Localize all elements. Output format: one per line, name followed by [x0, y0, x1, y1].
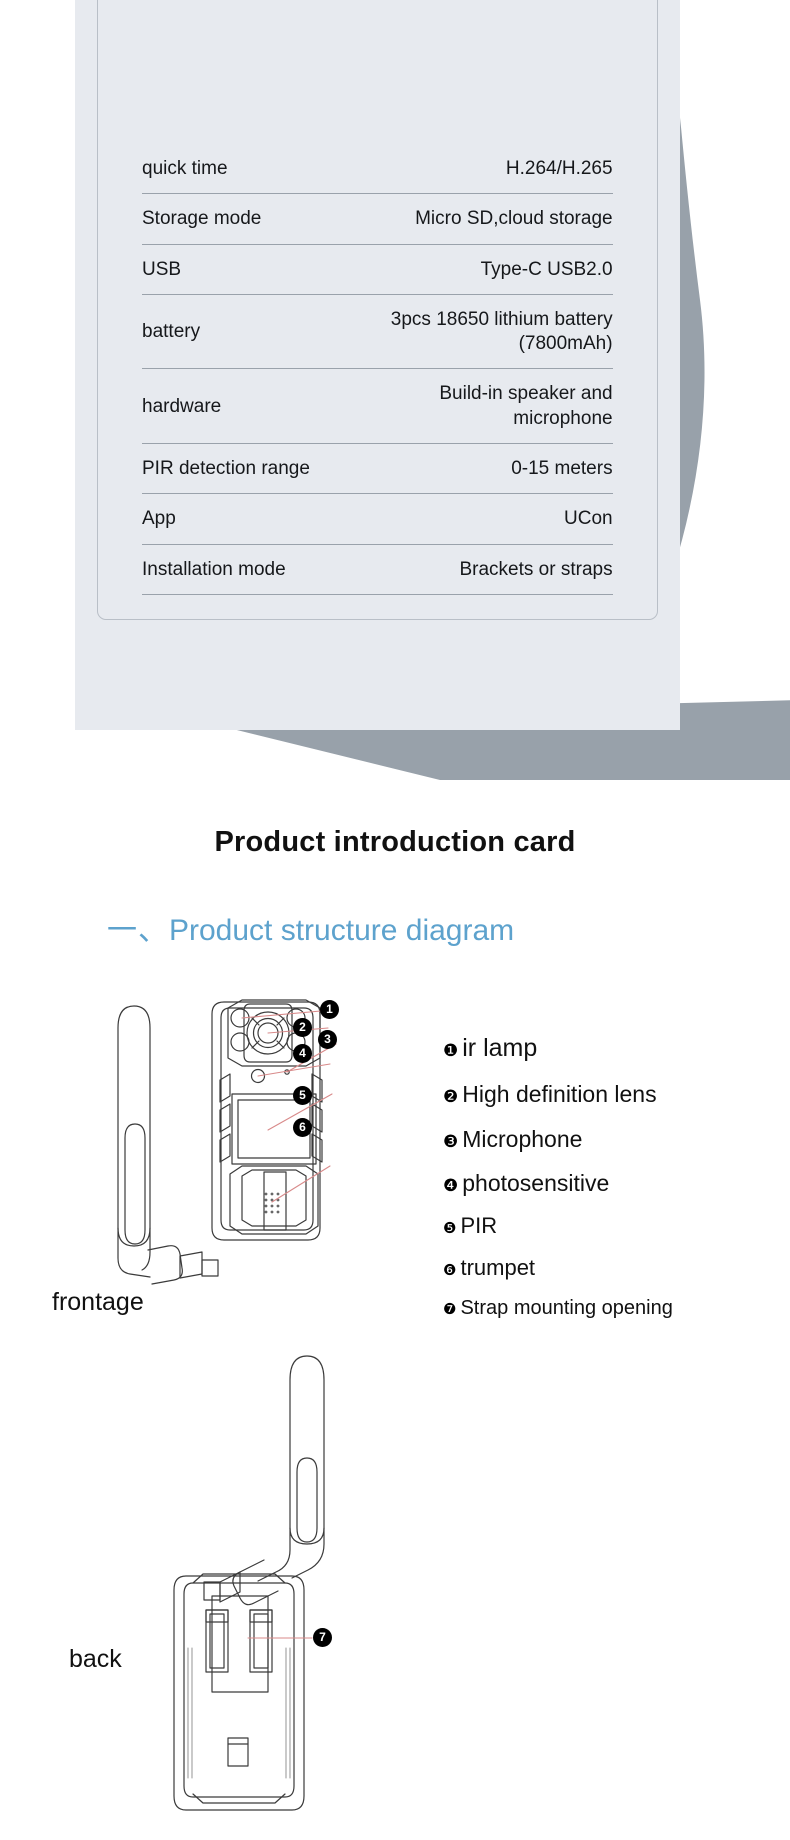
table-row: USB Type-C USB2.0 — [142, 244, 613, 294]
legend-label-6: trumpet — [460, 1255, 535, 1281]
spec-value: Micro SD,cloud storage — [373, 194, 613, 244]
table-row: battery 3pcs 18650 lithium battery (7800… — [142, 294, 613, 369]
back-camera-body — [174, 1574, 304, 1810]
callout-marker-1: 1 — [320, 1000, 339, 1019]
legend-label-3: Microphone — [462, 1126, 582, 1153]
spec-table-body: quick time H.264/H.265 Storage mode Micr… — [142, 144, 613, 595]
spec-key: PIR detection range — [142, 444, 373, 494]
front-view-label: frontage — [52, 1288, 144, 1317]
component-legend: ❶ ir lamp ❷ High definition lens ❸ Micro… — [443, 1034, 773, 1320]
spec-panel: quick time H.264/H.265 Storage mode Micr… — [75, 0, 680, 730]
section-heading: 一、Product structure diagram — [107, 905, 514, 949]
section-heading-label: Product structure diagram — [169, 914, 514, 947]
list-item: ❼ Strap mounting opening — [443, 1297, 773, 1320]
legend-bullet-1: ❶ — [443, 1042, 458, 1059]
table-row: App UCon — [142, 494, 613, 544]
section-heading-prefix: 一、 — [107, 914, 169, 947]
callout-marker-3: 3 — [318, 1030, 337, 1049]
spec-value: UCon — [373, 494, 613, 544]
spec-key: quick time — [142, 144, 373, 194]
legend-bullet-3: ❸ — [443, 1133, 458, 1150]
list-item: ❹ photosensitive — [443, 1170, 773, 1197]
legend-bullet-7: ❼ — [443, 1302, 456, 1317]
list-item: ❷ High definition lens — [443, 1081, 773, 1108]
callout-marker-4: 4 — [293, 1044, 312, 1063]
table-row: Storage mode Micro SD,cloud storage — [142, 194, 613, 244]
spec-card: quick time H.264/H.265 Storage mode Micr… — [97, 0, 658, 620]
callout-marker-5: 5 — [293, 1086, 312, 1105]
legend-label-1: ir lamp — [462, 1034, 537, 1063]
legend-label-5: PIR — [460, 1213, 497, 1239]
legend-label-7: Strap mounting opening — [460, 1297, 672, 1320]
front-antenna — [112, 992, 218, 1284]
spec-key: Storage mode — [142, 194, 373, 244]
legend-label-2: High definition lens — [462, 1081, 656, 1108]
list-item: ❸ Microphone — [443, 1126, 773, 1153]
table-row: PIR detection range 0-15 meters — [142, 444, 613, 494]
table-row: hardware Build-in speaker and microphone — [142, 369, 613, 444]
spec-key: USB — [142, 244, 373, 294]
spec-value: Build-in speaker and microphone — [373, 369, 613, 444]
callout-marker-2: 2 — [293, 1018, 312, 1037]
page-title: Product introduction card — [0, 826, 790, 859]
legend-bullet-6: ❻ — [443, 1263, 456, 1278]
table-row: Installation mode Brackets or straps — [142, 544, 613, 594]
legend-bullet-2: ❷ — [443, 1088, 458, 1105]
callout-marker-7: 7 — [313, 1628, 332, 1647]
legend-bullet-5: ❺ — [443, 1221, 456, 1236]
back-antenna — [204, 1356, 324, 1605]
spec-table: quick time H.264/H.265 Storage mode Micr… — [142, 144, 613, 595]
legend-label-4: photosensitive — [462, 1170, 609, 1197]
table-row: quick time H.264/H.265 — [142, 144, 613, 194]
back-view-label: back — [69, 1645, 122, 1674]
spec-value: H.264/H.265 — [373, 144, 613, 194]
spec-key: Installation mode — [142, 544, 373, 594]
spec-value: 3pcs 18650 lithium battery (7800mAh) — [373, 294, 613, 369]
spec-value: Type-C USB2.0 — [373, 244, 613, 294]
spec-key: battery — [142, 294, 373, 369]
legend-bullet-4: ❹ — [443, 1177, 458, 1194]
callout-marker-6: 6 — [293, 1118, 312, 1137]
spec-key: App — [142, 494, 373, 544]
list-item: ❻ trumpet — [443, 1255, 773, 1281]
spec-value: Brackets or straps — [373, 544, 613, 594]
list-item: ❶ ir lamp — [443, 1034, 773, 1063]
list-item: ❺ PIR — [443, 1213, 773, 1239]
spec-value: 0-15 meters — [373, 444, 613, 494]
spec-key: hardware — [142, 369, 373, 444]
